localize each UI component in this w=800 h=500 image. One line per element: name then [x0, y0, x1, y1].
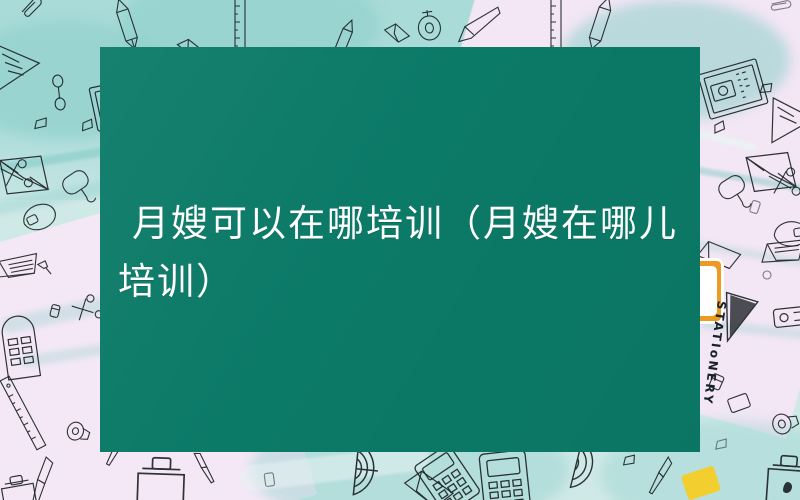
- calculator-icon: [473, 445, 538, 500]
- glue-stick-icon: [261, 469, 280, 491]
- set-square-icon: [0, 38, 48, 103]
- sharpener-icon: [768, 298, 800, 336]
- sharpener-icon: [412, 6, 446, 44]
- paperclip-icon: [18, 0, 44, 20]
- page-title: 月嫂可以在哪培训（月嫂在哪儿培训）: [118, 195, 696, 311]
- stamp-icon: [129, 449, 193, 500]
- tack-icon: [760, 268, 774, 282]
- title-card: 月嫂可以在哪培训（月嫂在哪儿培训）: [100, 47, 700, 452]
- screenshot-canvas: STATIoNERY 月嫂可以在哪培训（月嫂在哪儿培训）: [0, 0, 800, 500]
- stamp-icon: [0, 466, 43, 500]
- stamp-icon: [758, 448, 800, 500]
